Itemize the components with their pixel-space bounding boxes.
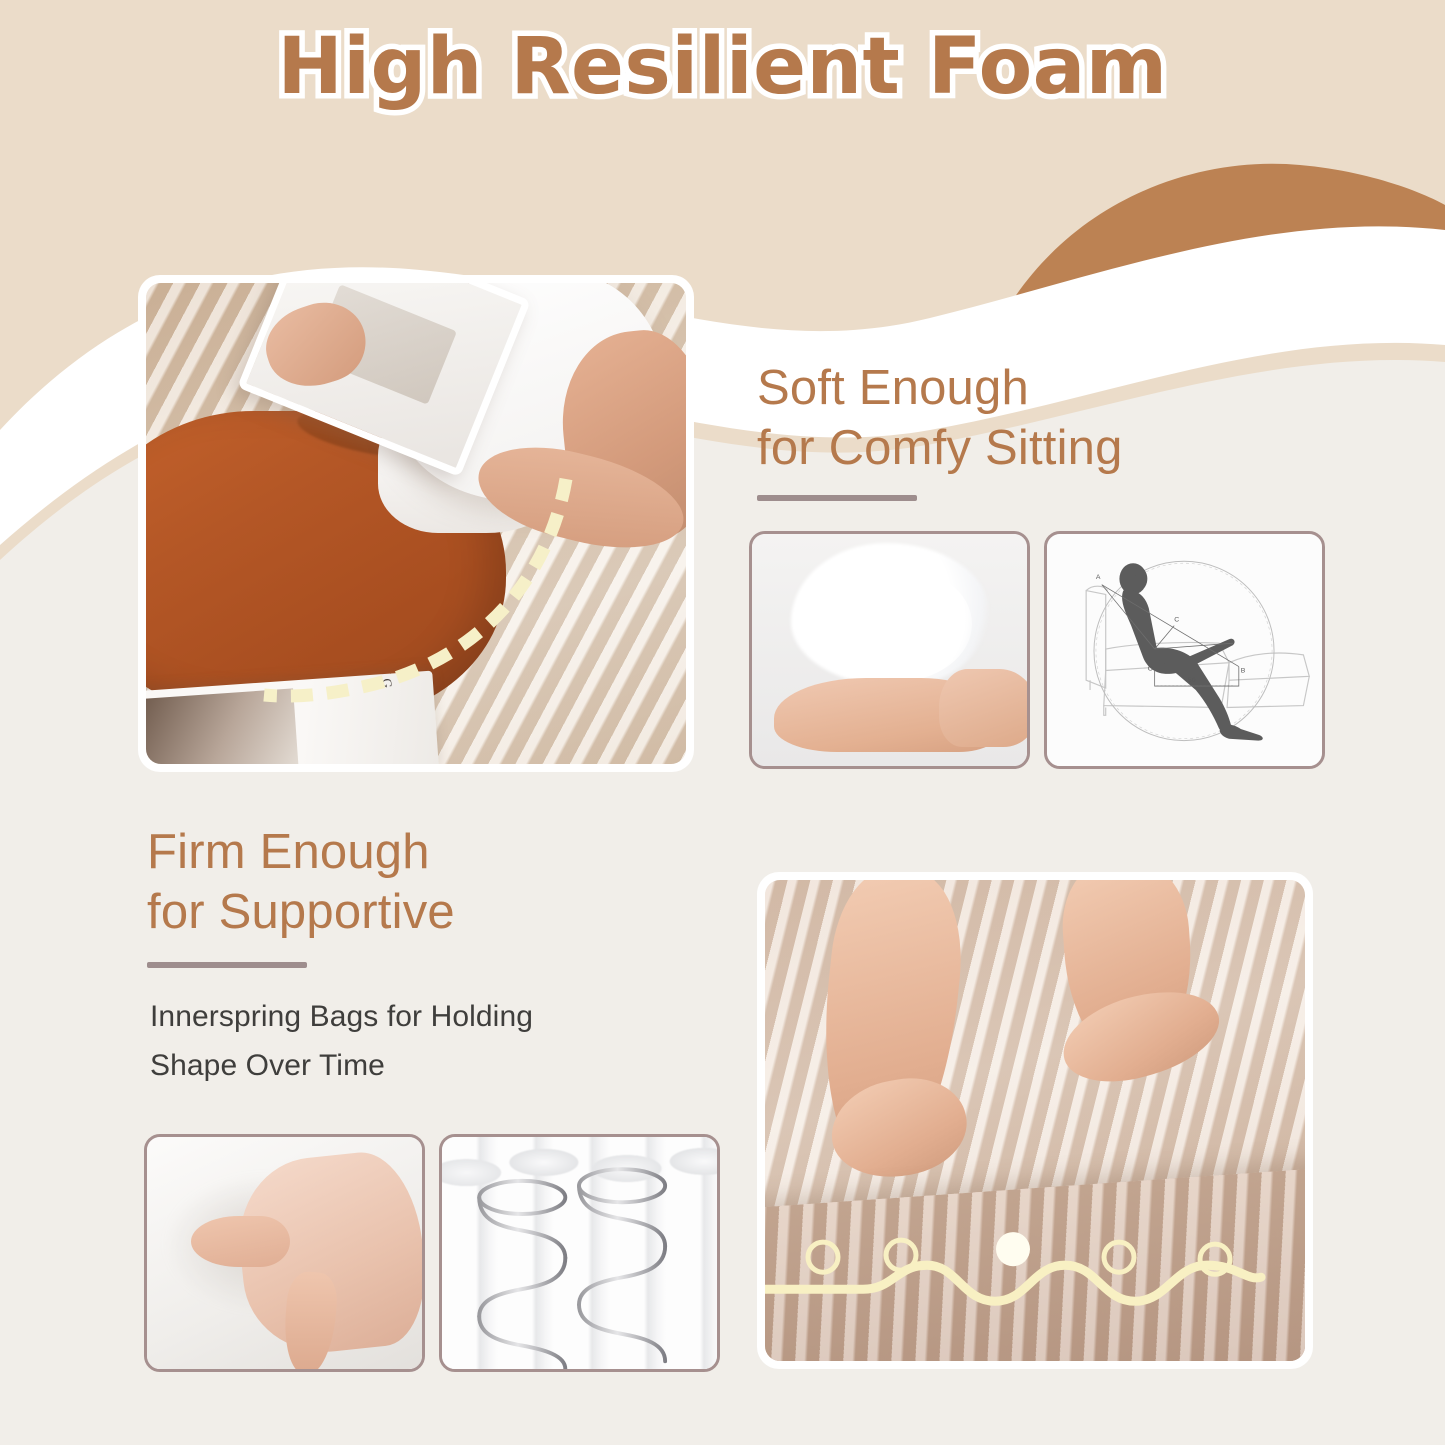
bare-feet-on-cushion-photo <box>757 872 1313 1369</box>
person-reading-on-sofa-photo: DREAMING <box>138 275 694 772</box>
svg-text:C: C <box>1174 617 1179 624</box>
svg-text:50: 50 <box>1188 677 1196 684</box>
svg-text:A: A <box>1096 574 1101 581</box>
product-feature-poster: High Resilient Foam DREAMING Soft <box>0 0 1445 1445</box>
svg-text:O: O <box>1148 665 1153 672</box>
svg-text:B: B <box>1241 667 1246 674</box>
pocket-springs-thumbnail <box>439 1134 720 1372</box>
ergonomic-seating-diagram-thumbnail: A B C O 50 <box>1044 531 1325 769</box>
hand-pressing-foam-thumbnail <box>144 1134 425 1372</box>
soft-headline: Soft Enough for Comfy Sitting <box>757 358 1277 479</box>
wrist <box>939 669 1027 748</box>
dashed-resilience-arc <box>146 283 686 764</box>
fiberfill-in-hand-thumbnail <box>749 531 1030 769</box>
coil-springs <box>442 1137 717 1369</box>
firm-subtext: Innerspring Bags for Holding Shape Over … <box>150 993 710 1090</box>
fingers <box>191 1216 290 1267</box>
ergonomics-diagram: A B C O 50 <box>1047 534 1322 766</box>
firm-headline: Firm Enough for Supportive <box>147 822 667 943</box>
soft-headline-rule <box>757 495 917 501</box>
firm-headline-rule <box>147 962 307 968</box>
fiberfill-cloud-core <box>818 566 972 682</box>
page-title: High Resilient Foam <box>0 22 1445 112</box>
resilience-wave-graphic <box>765 1169 1305 1361</box>
